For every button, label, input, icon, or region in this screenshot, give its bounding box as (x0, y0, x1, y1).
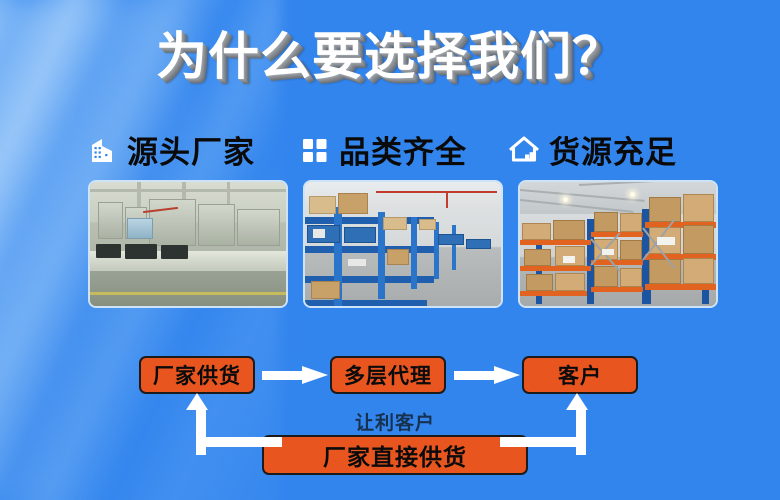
arrow-right-icon (262, 366, 328, 384)
arrow-up-elbow-icon (186, 393, 282, 455)
blue-warehouse-shelving-photo (303, 180, 503, 308)
feature-heading-full-categories: 品类齐全 (300, 126, 508, 172)
flow-caption-benefit: 让利客户 (262, 408, 528, 435)
promo-banner: 为什么要选择我们？ 源头厂家 品类齐全 (0, 0, 780, 500)
feature-heading-source-factory: 源头厂家 (88, 126, 300, 172)
stacked-carton-racks-photo (518, 180, 718, 308)
flow-node-factory-supply[interactable]: 厂家供货 (139, 356, 255, 394)
feature-label: 品类齐全 (339, 127, 467, 172)
feature-photo-row (88, 180, 718, 308)
flow-node-multi-layer-agent[interactable]: 多层代理 (330, 356, 446, 394)
feature-heading-row: 源头厂家 品类齐全 货源充足 (88, 126, 718, 172)
flow-node-factory-direct-supply[interactable]: 厂家直接供货 (262, 435, 528, 475)
page-title: 为什么要选择我们？ (0, 26, 780, 90)
factory-building-icon (88, 134, 118, 164)
feature-label: 货源充足 (549, 127, 677, 172)
factory-production-line-photo (88, 180, 288, 308)
distribution-flow-diagram: 厂家供货 多层代理 客户 让利客户 厂家直接供货 (0, 330, 780, 500)
grid-squares-icon (300, 134, 330, 164)
feature-label: 源头厂家 (127, 127, 255, 172)
arrow-up-elbow-icon (500, 393, 596, 455)
warehouse-house-icon (508, 134, 540, 164)
flow-node-customer[interactable]: 客户 (522, 356, 638, 394)
arrow-right-icon (454, 366, 520, 384)
feature-heading-ample-supply: 货源充足 (508, 126, 718, 172)
